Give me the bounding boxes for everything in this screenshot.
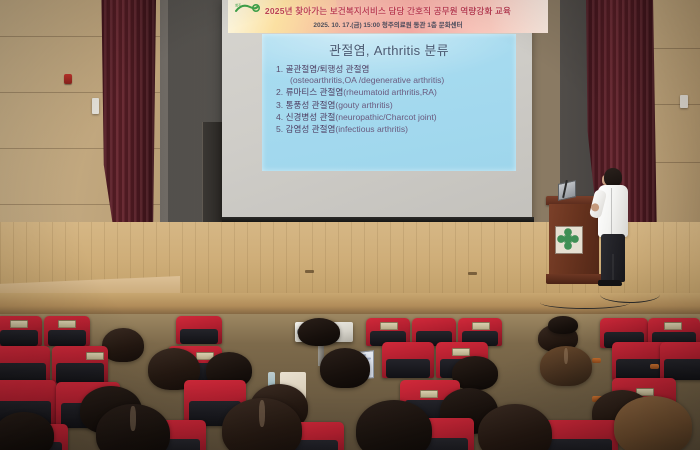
list-item: 2. 류마티스 관절염(rheumatoid arthritis,RA) <box>276 87 510 98</box>
audience-head <box>548 316 578 334</box>
slide-classification-list: 1. 골관절염/퇴행성 관절염 (osteoarthritis,OA /dege… <box>276 64 510 136</box>
banner-title: 2025년 찾아가는 보건복지서비스 담당 간호직 공무원 역량강화 교육 <box>228 5 548 17</box>
speaker-presenter <box>592 168 638 292</box>
banner-subtitle: 2025. 10. 17.(금) 15:00 청주의료원 동관 1층 문화센터 <box>228 19 548 29</box>
floor-cable-2 <box>540 296 630 309</box>
presentation-slide: 관절염, Arthritis 분류 1. 골관절염/퇴행성 관절염 (osteo… <box>262 34 516 171</box>
seat <box>660 342 700 380</box>
speaker-shoes <box>598 280 622 286</box>
list-item: 1. 골관절염/퇴행성 관절염 (osteoarthritis,OA /dege… <box>276 64 510 86</box>
fire-alarm-icon <box>64 74 72 84</box>
event-banner: 청주 2025년 찾아가는 보건복지서비스 담당 간호직 공무원 역량강화 교육… <box>228 0 548 33</box>
wall-switch-plate <box>92 98 99 114</box>
seat <box>176 316 222 344</box>
list-item: 4. 신경병성 관절(neuropathic/Charcot joint) <box>276 112 510 123</box>
list-item: 3. 통풍성 관절염(gouty arthritis) <box>276 100 510 111</box>
audience-head <box>298 318 340 346</box>
speaker-leg-gap <box>612 254 614 280</box>
speaker-hand-holding-mic <box>590 203 600 213</box>
audience-head <box>540 346 592 386</box>
audience-head <box>320 348 370 388</box>
lecture-hall-photo: 청주 2025년 찾아가는 보건복지서비스 담당 간호직 공무원 역량강화 교육… <box>0 0 700 450</box>
seat <box>382 342 434 378</box>
green-cross-icon <box>556 227 580 251</box>
audience-head <box>102 328 144 362</box>
audience-head <box>614 396 692 450</box>
list-item: 5. 감염성 관절염(infectious arthritis) <box>276 124 510 135</box>
slide-title: 관절염, Arthritis 분류 <box>262 40 516 59</box>
podium-emblem-panel <box>555 226 583 254</box>
seat <box>0 346 50 384</box>
lab-coat-seam <box>611 188 612 234</box>
wall-switch-plate-right <box>680 95 688 108</box>
